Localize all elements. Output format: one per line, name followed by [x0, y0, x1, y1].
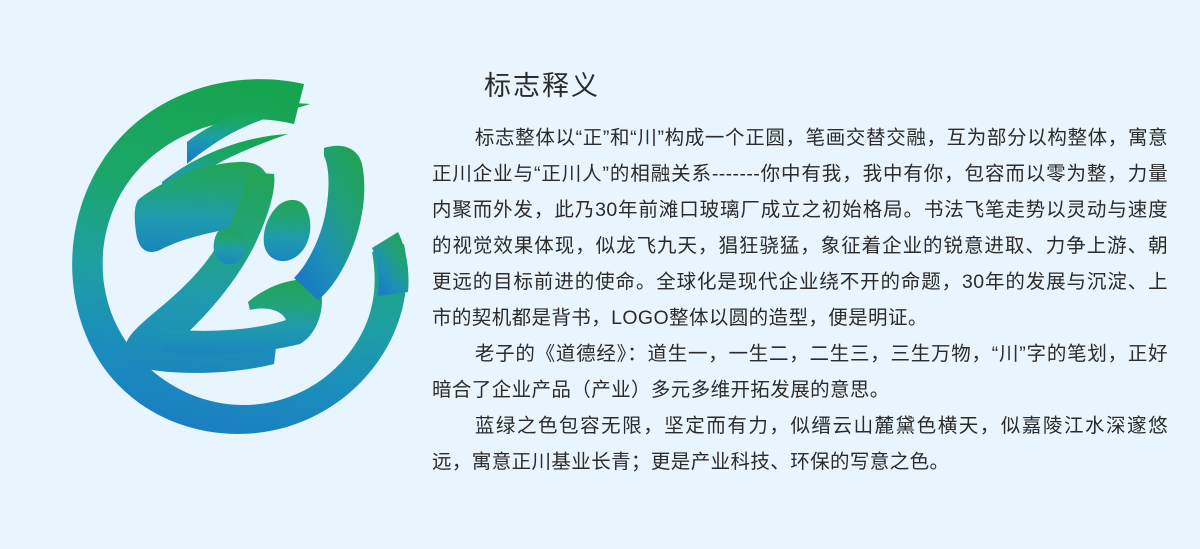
logo-inner-character-mark — [125, 146, 365, 373]
logo-explanation-text: 标志释义 标志整体以“正”和“川”构成一个正圆，笔画交替交融，互为部分以构整体，… — [432, 66, 1168, 480]
paragraph-3: 蓝绿之色包容无限，坚定而有力，似缙云山麓黛色横天，似嘉陵江水深邃悠远，寓意正川基… — [432, 408, 1168, 480]
paragraph-2: 老子的《道德经》：道生一，一生二，二生三，三生万物，“川”字的笔划，正好暗合了企… — [432, 336, 1168, 408]
zhengchuan-logo-icon — [42, 52, 427, 437]
brand-logo — [42, 52, 427, 437]
page-title: 标志释义 — [484, 66, 1168, 106]
logo-explanation-page: 标志释义 标志整体以“正”和“川”构成一个正圆，笔画交替交融，互为部分以构整体，… — [0, 0, 1200, 549]
paragraph-1: 标志整体以“正”和“川”构成一个正圆，笔画交替交融，互为部分以构整体，寓意正川企… — [432, 120, 1168, 336]
